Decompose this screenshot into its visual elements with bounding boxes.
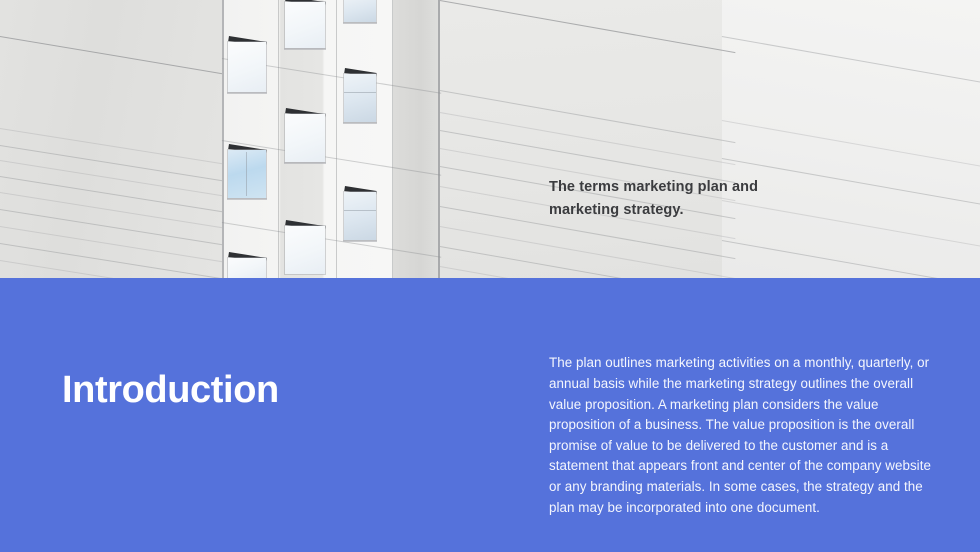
tower-right-edge (438, 0, 440, 278)
window-sill (284, 162, 326, 164)
building-window (228, 150, 266, 198)
building-window (344, 192, 376, 240)
window-sill (343, 22, 377, 24)
page-title: Introduction (62, 367, 279, 413)
window-mullion (344, 92, 376, 93)
building-window (344, 74, 376, 122)
facade-left-plane (0, 0, 222, 278)
building-window (228, 42, 266, 92)
building-window (285, 226, 325, 274)
building-window (344, 0, 376, 22)
window-sill (227, 92, 267, 94)
window-sill (284, 48, 326, 50)
hero-photo: The terms marketing plan and marketing s… (0, 0, 980, 278)
building-window (285, 114, 325, 162)
tower-pilaster-2 (336, 0, 337, 278)
facade-right-plane (722, 0, 980, 278)
slide-root: The terms marketing plan and marketing s… (0, 0, 980, 552)
window-sill (343, 240, 377, 242)
building-window (285, 2, 325, 48)
window-sill (227, 198, 267, 200)
tower-pilaster-1 (278, 0, 279, 278)
facade-mid-plane (440, 0, 722, 278)
photo-caption: The terms marketing plan and marketing s… (549, 176, 811, 222)
window-mullion (246, 152, 247, 196)
window-sill (343, 122, 377, 124)
tower-return-face (393, 0, 440, 278)
window-mullion (344, 210, 376, 211)
body-paragraph: The plan outlines marketing activities o… (549, 353, 941, 518)
tower-left-edge (222, 0, 224, 278)
building-window (228, 258, 266, 278)
